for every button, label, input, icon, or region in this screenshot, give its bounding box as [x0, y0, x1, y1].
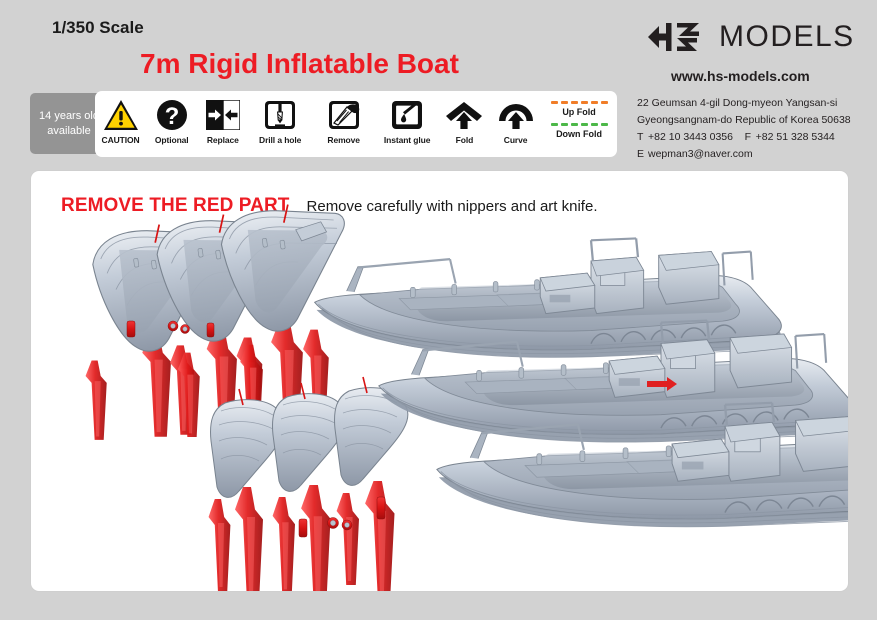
legend-item-glue: Instant glue — [375, 98, 438, 145]
scale-label: 1/350 Scale — [52, 18, 144, 38]
age-badge-line2: available — [47, 124, 90, 139]
page-title: 7m Rigid Inflatable Boat — [140, 48, 459, 80]
legend-label-caution: CAUTION — [102, 135, 140, 145]
caution-icon — [103, 98, 139, 132]
legend-item-remove: Remove — [312, 98, 375, 145]
address-line-2: Gyeongsangnam-do Republic of Korea 50638 — [637, 112, 851, 129]
brand-lockup: MODELS — [648, 20, 855, 54]
legend-item-drill: Drill a hole — [248, 98, 311, 145]
tel-value: +82 10 3443 0356 — [648, 131, 733, 143]
down-fold-dashes — [551, 122, 608, 126]
legend-label-glue: Instant glue — [384, 135, 431, 145]
legend-label-remove: Remove — [327, 135, 359, 145]
up-fold-dashes — [551, 100, 608, 104]
down-fold-label: Down Fold — [556, 129, 602, 139]
legend-icon-strip: CAUTION ? Optional Replace — [95, 91, 617, 157]
fold-icon — [445, 98, 483, 132]
age-badge-line1: 14 years old — [39, 109, 99, 124]
replace-icon — [206, 98, 240, 132]
phone-line: T+82 10 3443 0356 F+82 51 328 5344 — [637, 129, 851, 146]
instruction-sheet: 1/350 Scale 7m Rigid Inflatable Boat MOD… — [0, 0, 877, 620]
legend-label-fold: Fold — [456, 135, 474, 145]
question-icon: ? — [156, 98, 188, 132]
sprue-cluster-bottom-left — [209, 377, 408, 591]
boat-render-top — [315, 238, 782, 357]
legend-item-replace: Replace — [197, 98, 248, 145]
legend-label-drill: Drill a hole — [259, 135, 301, 145]
legend-item-fold: Fold — [439, 98, 490, 145]
fax-label: F — [745, 129, 756, 146]
legend-item-caution: CAUTION — [95, 98, 146, 145]
up-fold-label: Up Fold — [562, 107, 596, 117]
drill-icon — [264, 98, 296, 132]
tel-label: T — [637, 129, 648, 146]
email-line: Ewepman3@naver.com — [637, 146, 851, 163]
artwork-layer — [31, 171, 848, 591]
instruction-panel: REMOVE THE RED PART Remove carefully wit… — [30, 170, 849, 592]
remove-icon — [328, 98, 360, 132]
legend-label-optional: Optional — [155, 135, 189, 145]
brand-name: MODELS — [719, 20, 855, 54]
address-line-1: 22 Geumsan 4-gil Dong-myeon Yangsan-si — [637, 95, 851, 112]
contact-block: 22 Geumsan 4-gil Dong-myeon Yangsan-si G… — [637, 95, 851, 163]
legend-label-replace: Replace — [207, 135, 239, 145]
glue-icon — [391, 98, 423, 132]
hs-logo-icon — [648, 22, 710, 52]
legend-item-folds: Up Fold Down Fold — [541, 100, 617, 144]
legend-label-curve: Curve — [504, 135, 528, 145]
legend-item-optional: ? Optional — [146, 98, 197, 145]
email-value: wepman3@naver.com — [648, 148, 753, 160]
svg-text:?: ? — [164, 103, 179, 130]
brand-website: www.hs-models.com — [671, 68, 810, 84]
fax-value: +82 51 328 5344 — [756, 131, 835, 143]
legend-item-curve: Curve — [490, 98, 541, 145]
email-label: E — [637, 146, 648, 163]
curve-icon — [497, 98, 535, 132]
